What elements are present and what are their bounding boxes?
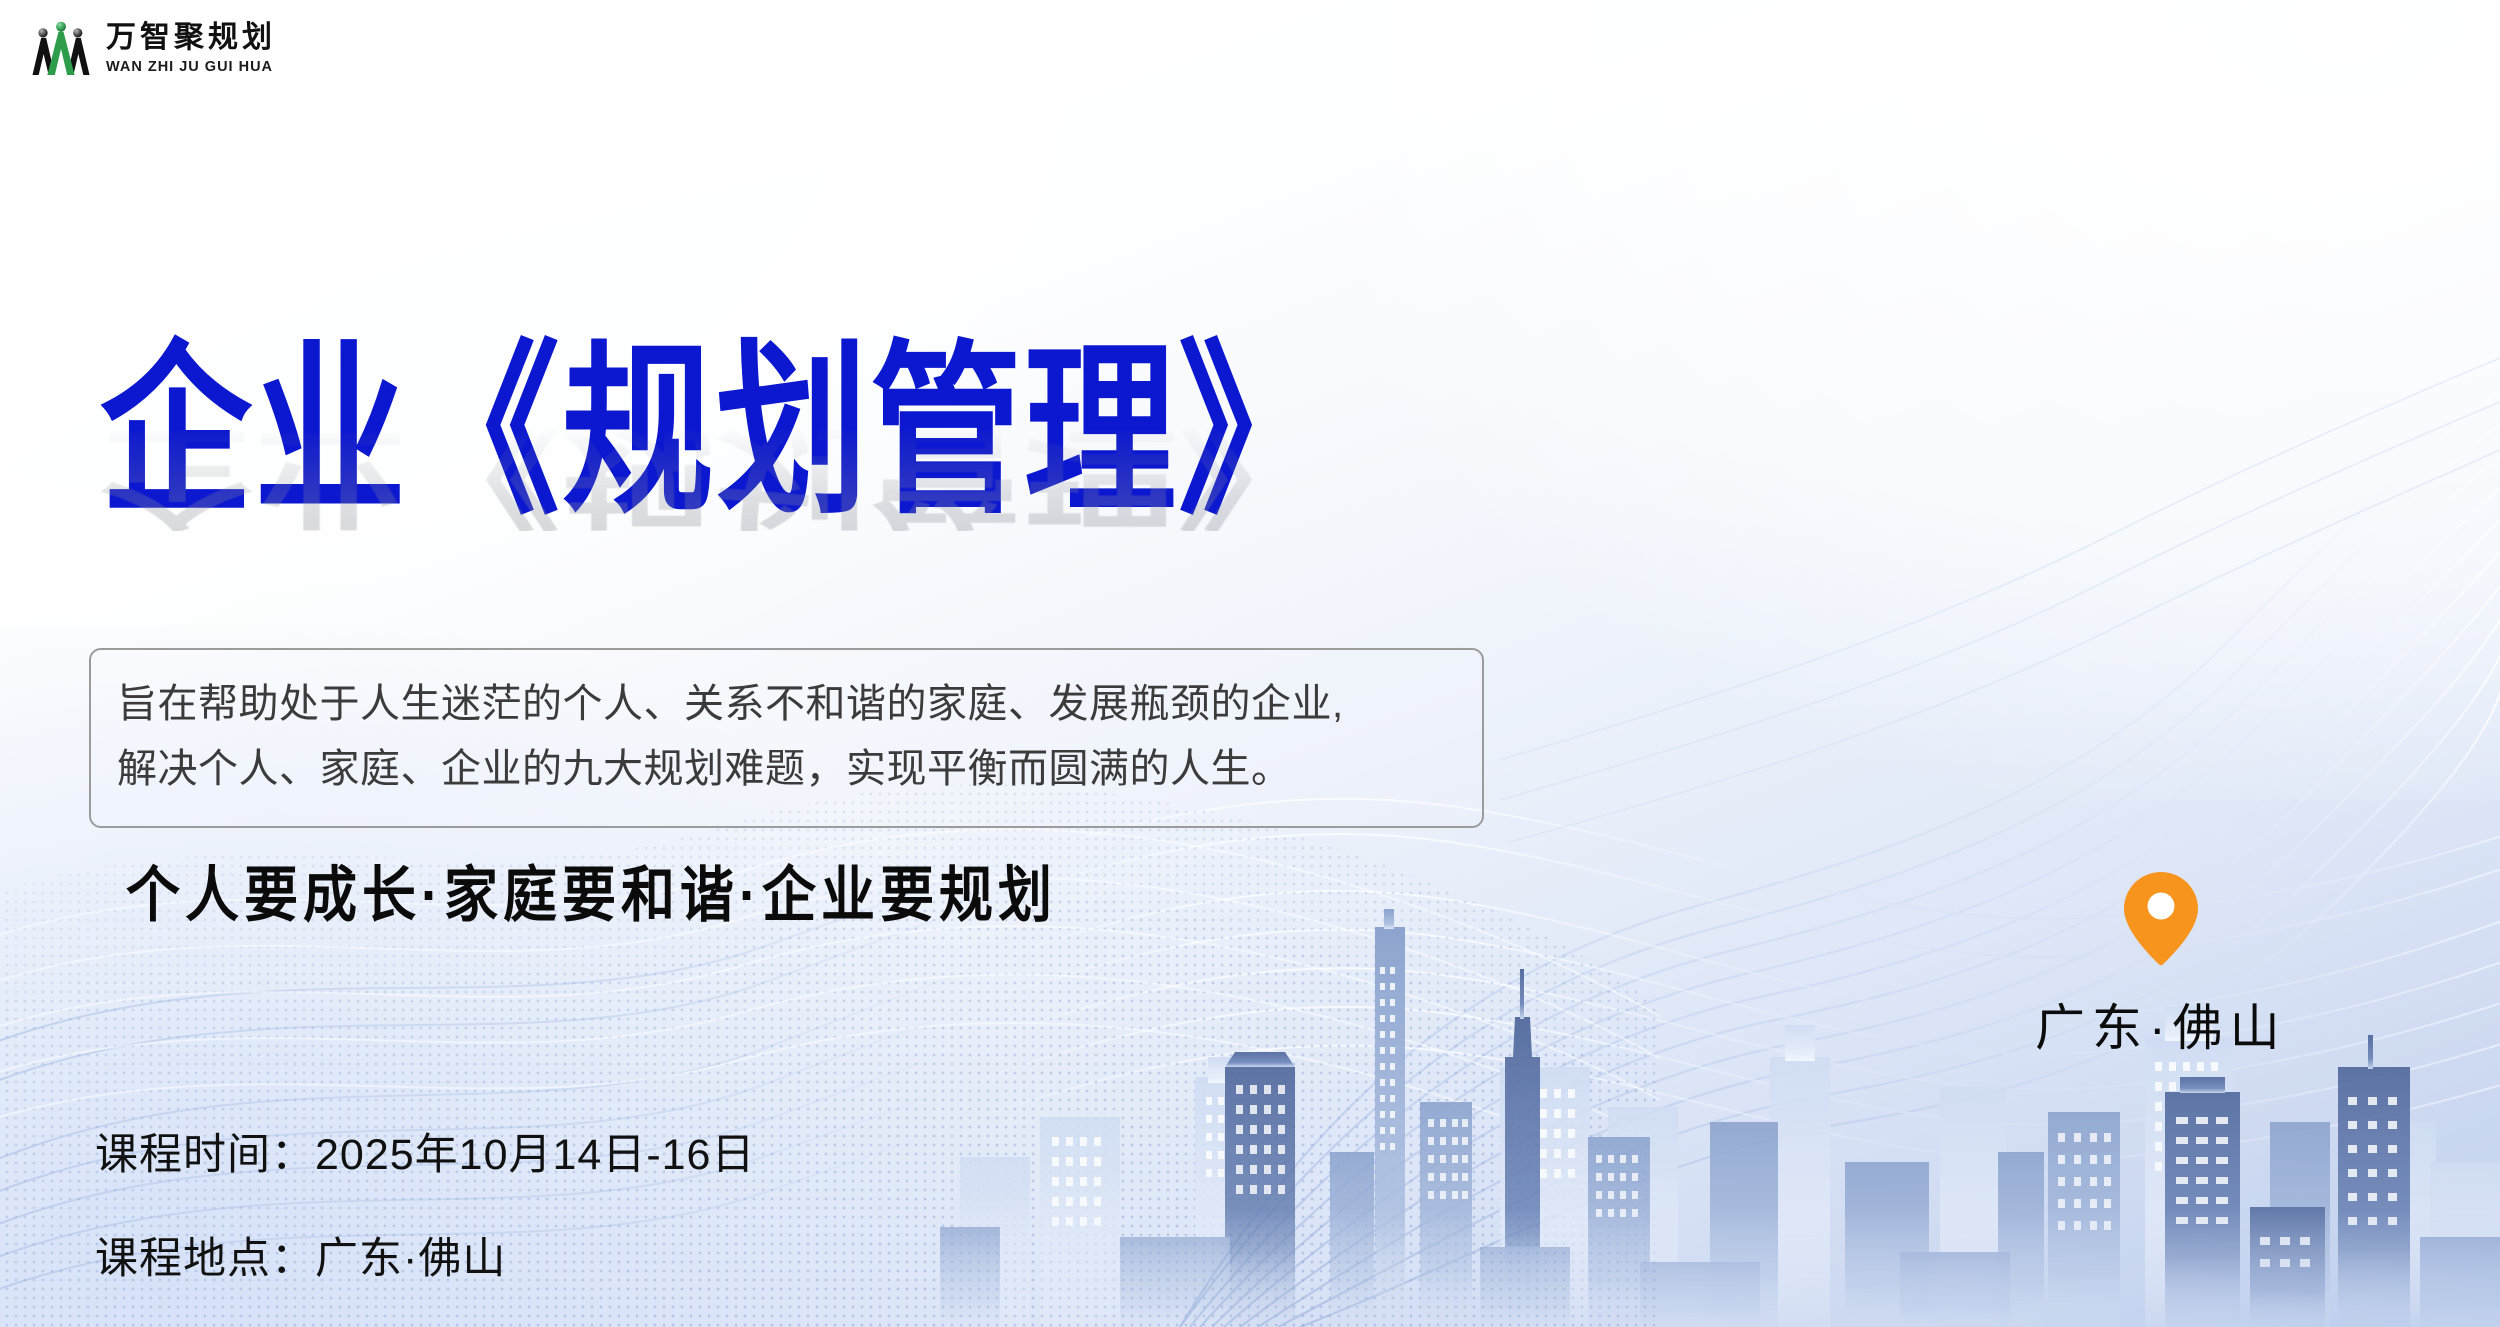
brand-name-cn: 万智聚规划 — [106, 23, 276, 53]
brand-logo[interactable]: 万智聚规划 WAN ZHI JU GUI HUA — [30, 18, 276, 80]
brand-logo-text: 万智聚规划 WAN ZHI JU GUI HUA — [106, 23, 276, 75]
location-label: 广东·佛山 — [2035, 988, 2287, 1060]
hero-title-block: 企业《规划管理》 企业《规划管理》 — [100, 338, 1660, 493]
course-info-block: 课程时间：2025年10月14日-16日 课程地点：广东·佛山 — [95, 1120, 755, 1327]
course-place: 课程地点：广东·佛山 — [95, 1224, 755, 1286]
description-box: 旨在帮助处于人生迷茫的个人、关系不和谐的家庭、发展瓶颈的企业, 解决个人、家庭、… — [89, 648, 1484, 828]
map-pin-icon — [2122, 870, 2200, 966]
brand-name-en: WAN ZHI JU GUI HUA — [106, 60, 276, 75]
course-time: 课程时间：2025年10月14日-16日 — [95, 1120, 755, 1182]
description-line-2: 解决个人、家庭、企业的九大规划难题，实现平衡而圆满的人生。 — [117, 737, 1456, 802]
page-title-reflection: 企业《规划管理》 — [100, 419, 1332, 531]
location-badge: 广东·佛山 — [2035, 870, 2287, 1060]
three-people-logo-icon — [30, 18, 92, 80]
poster-canvas: 万智聚规划 WAN ZHI JU GUI HUA 企业《规划管理》 企业《规划管… — [0, 0, 2500, 1327]
slogan-text: 个人要成长·家庭要和谐·企业要规划 — [126, 845, 1057, 933]
description-line-1: 旨在帮助处于人生迷茫的个人、关系不和谐的家庭、发展瓶颈的企业, — [117, 672, 1456, 737]
